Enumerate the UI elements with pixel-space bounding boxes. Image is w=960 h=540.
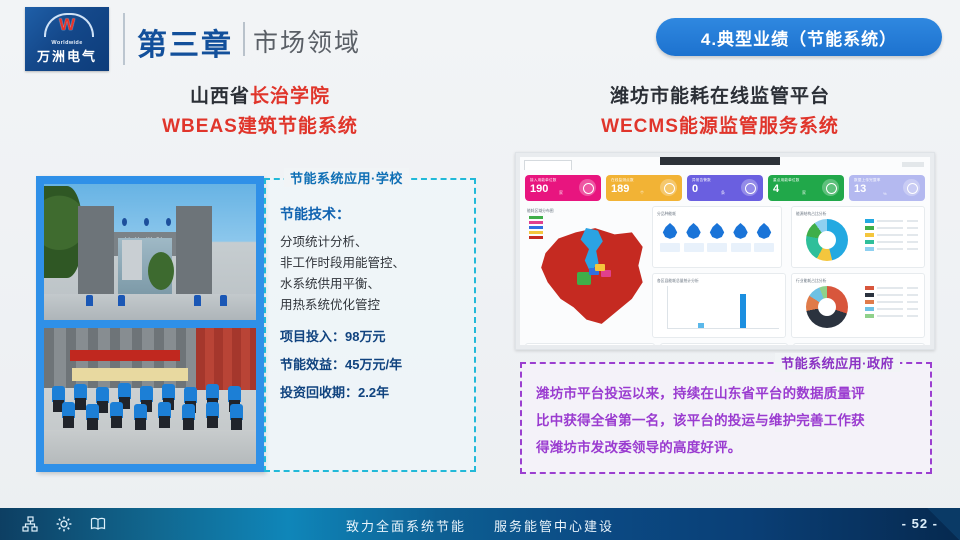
- dashboard-screenshot: 接入用能单位数 190 家 在线监测点数 189 个 异常告警数 0: [515, 152, 935, 350]
- browser-tab: [524, 160, 572, 170]
- kpi-card: 异常告警数 0 条: [687, 175, 763, 201]
- donut-chart: [806, 219, 848, 261]
- left-column-title: 山西省长治学院 WBEAS建筑节能系统: [60, 82, 460, 142]
- kpi-unit: %: [883, 191, 887, 196]
- chart-bar-icon: [822, 179, 839, 196]
- slide-canvas: W Worldwide 万洲电气 第三章 市场领域 4.典型业绩（节能系统） 山…: [0, 0, 960, 540]
- right-column-title: 潍坊市能耗在线监管平台 WECMS能源监管服务系统: [500, 82, 940, 142]
- card-title: 能耗区域分布图: [527, 208, 645, 214]
- gauge-icon: [660, 179, 677, 196]
- donut-legend: [865, 286, 918, 321]
- card-title: 能源结构占比分析: [796, 211, 920, 217]
- green-bar-card: 各区县能耗总量统计分析: [525, 343, 655, 345]
- water-icon: [684, 223, 704, 252]
- map-legend: [529, 216, 543, 241]
- monthly-bar-card: 月度能耗趋势统计分析: [660, 343, 788, 345]
- chart-bar-icon: [579, 179, 596, 196]
- kpi-card: 重点用能单位数 4 家: [768, 175, 844, 201]
- donut-chart: [806, 286, 848, 328]
- right-title-line2: WECMS能源监管服务系统: [500, 112, 940, 142]
- photo-campus-gate: 长治学院: [44, 184, 256, 320]
- tech-item: 水系统供用平衡、: [280, 274, 474, 295]
- kpi-unit: 家: [802, 190, 806, 196]
- kpi-unit: 家: [559, 190, 563, 196]
- chapter-title: 第三章: [137, 20, 233, 64]
- coal-icon: [754, 223, 774, 252]
- energy-type-card: 分品种能耗: [652, 206, 782, 268]
- card-title: 行业能耗占比分析: [796, 278, 920, 284]
- footer-slogan: 致力全面系统节能 服务能管中心建设: [0, 516, 960, 535]
- window-controls: [902, 162, 924, 167]
- area-energy-bar-card: 各区县能耗总量统计分析: [652, 273, 786, 338]
- left-title-prefix: 山西省: [190, 86, 250, 107]
- slide-footer: 致力全面系统节能 服务能管中心建设 - 52 -: [0, 508, 960, 540]
- footer-slogan-left: 致力全面系统节能: [346, 519, 466, 534]
- tech-item: 分项统计分析、: [280, 232, 474, 253]
- paragraph-line: 潍坊市平台投运以来，持续在山东省平台的数据质量评: [536, 380, 916, 407]
- tech-item: 非工作时段用能管控、: [280, 253, 474, 274]
- chapter-divider: [243, 22, 245, 56]
- check-circle-icon: [903, 179, 920, 196]
- right-info-box: 节能系统应用·政府 潍坊市平台投运以来，持续在山东省平台的数据质量评 比中获得全…: [520, 362, 932, 474]
- company-logo: W Worldwide 万洲电气: [25, 7, 109, 71]
- chapter-subtitle: 市场领域: [253, 23, 361, 59]
- kpi-unit: 个: [640, 190, 644, 196]
- student-rows: [46, 380, 254, 428]
- paragraph-line: 得潍坊市发改委领导的高度好评。: [536, 434, 916, 461]
- ranking-table-card: 用能单位能耗排名统计: [793, 343, 925, 345]
- right-box-title: 节能系统应用·政府: [775, 353, 900, 372]
- metric-payback: 投资回收期：2.2年: [280, 380, 474, 406]
- paragraph-line: 比中获得全省第一名，该平台的投运与维护完善工作获: [536, 407, 916, 434]
- left-title-line1: 山西省长治学院: [60, 82, 460, 112]
- kpi-unit: 条: [721, 190, 725, 196]
- kpi-row: 接入用能单位数 190 家 在线监测点数 189 个 异常告警数 0: [525, 175, 925, 201]
- energy-structure-card: 能源结构占比分析: [791, 206, 925, 268]
- kpi-card: 接入用能单位数 190 家: [525, 175, 601, 201]
- section-badge: 4.典型业绩（节能系统）: [656, 18, 942, 56]
- footer-corner-accent: [926, 508, 960, 540]
- header-divider: [123, 13, 125, 65]
- logo-latin-text: Worldwide: [51, 40, 82, 47]
- metric-savings: 节能效益：45万元/年: [280, 352, 474, 378]
- browser-url-bar: [660, 157, 780, 165]
- gas-icon: [707, 223, 727, 252]
- logo-emblem-icon: W: [44, 13, 90, 39]
- left-photo-panel: 长治学院: [36, 176, 264, 472]
- left-title-highlight: 长治学院: [250, 86, 330, 107]
- logo-chinese-text: 万洲电气: [37, 49, 97, 65]
- electricity-icon: [660, 223, 680, 252]
- tech-item: 用热系统优化管控: [280, 295, 474, 316]
- metric-investment: 项目投入：98万元: [280, 324, 474, 350]
- kpi-card: 在线监测点数 189 个: [606, 175, 682, 201]
- heat-icon: [731, 223, 751, 252]
- card-title: 各区县能耗总量统计分析: [657, 278, 781, 284]
- left-section-heading: 节能技术：: [280, 204, 474, 224]
- map-card: 能耗区域分布图: [525, 206, 647, 338]
- right-title-line1: 潍坊市能耗在线监管平台: [500, 82, 940, 112]
- bar-chart: [667, 286, 779, 329]
- photo-student-formation: [44, 328, 256, 464]
- slide-header: W Worldwide 万洲电气 第三章 市场领域 4.典型业绩（节能系统）: [0, 0, 960, 78]
- left-info-box: 节能系统应用·学校 节能技术： 分项统计分析、 非工作时段用能管控、 水系统供用…: [264, 178, 476, 472]
- logo-letter: W: [44, 15, 90, 35]
- footer-slogan-right: 服务能管中心建设: [494, 519, 614, 534]
- donut-legend: [865, 219, 918, 254]
- left-title-line2: WBEAS建筑节能系统: [60, 112, 460, 142]
- left-box-title: 节能系统应用·学校: [284, 168, 409, 187]
- kpi-card: 数据上传完整率 13 %: [849, 175, 925, 201]
- alert-icon: [741, 179, 758, 196]
- industry-ratio-card: 行业能耗占比分析: [791, 273, 925, 338]
